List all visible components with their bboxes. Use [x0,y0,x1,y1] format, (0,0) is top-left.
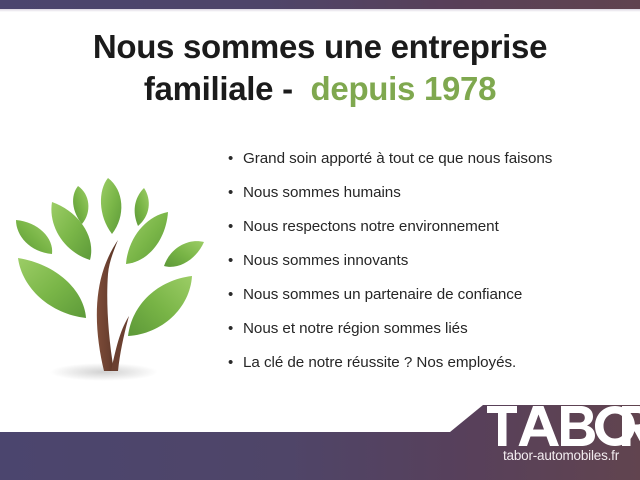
footer-band [0,400,640,480]
tree-trunk [97,240,118,371]
tree-leaf [101,178,121,234]
headline-accent: depuis 1978 [311,70,497,107]
tree-illustration [8,150,213,390]
bullet-icon: • [228,185,243,200]
list-item: • Nous et notre région sommes liés [228,320,628,354]
list-item-label: Nous sommes humains [243,184,401,201]
list-item: • Nous sommes innovants [228,252,628,286]
bullet-icon: • [228,355,243,370]
bullet-icon: • [228,253,243,268]
tree-leaf [164,241,204,267]
tree-leaf [135,188,149,226]
tree-leaf [18,258,86,318]
tree-leaf [128,276,192,336]
list-item-label: Nous respectons notre environnement [243,218,499,235]
headline-line-2-black: familiale [144,70,273,107]
headline-line-1: Nous sommes une entreprise [0,26,640,68]
bullet-icon: • [228,151,243,166]
headline: Nous sommes une entreprise familiale - d… [0,26,640,109]
footer-shape [0,400,640,480]
headline-dash: - [282,70,293,107]
slide-canvas: Nous sommes une entreprise familiale - d… [0,0,640,480]
list-item-label: Nous et notre région sommes liés [243,320,468,337]
bullet-icon: • [228,219,243,234]
bullet-icon: • [228,287,243,302]
list-item: • Nous sommes un partenaire de confiance [228,286,628,320]
list-item-label: La clé de notre réussite ? Nos employés. [243,354,516,371]
list-item-label: Grand soin apporté à tout ce que nous fa… [243,150,552,167]
headline-line-2: familiale - depuis 1978 [0,68,640,110]
list-item: • Grand soin apporté à tout ce que nous … [228,150,628,184]
top-accent-bar-shadow [0,9,640,12]
list-item-label: Nous sommes un partenaire de confiance [243,286,522,303]
bullet-icon: • [228,321,243,336]
benefits-list: • Grand soin apporté à tout ce que nous … [228,150,628,388]
tree-trunk-branch [111,316,129,371]
tree-leaf [16,220,52,254]
list-item: • La clé de notre réussite ? Nos employé… [228,354,628,388]
tree-svg [8,150,213,390]
top-accent-bar [0,0,640,9]
list-item-label: Nous sommes innovants [243,252,408,269]
list-item: • Nous respectons notre environnement [228,218,628,252]
list-item: • Nous sommes humains [228,184,628,218]
tree-leaf [126,212,168,264]
